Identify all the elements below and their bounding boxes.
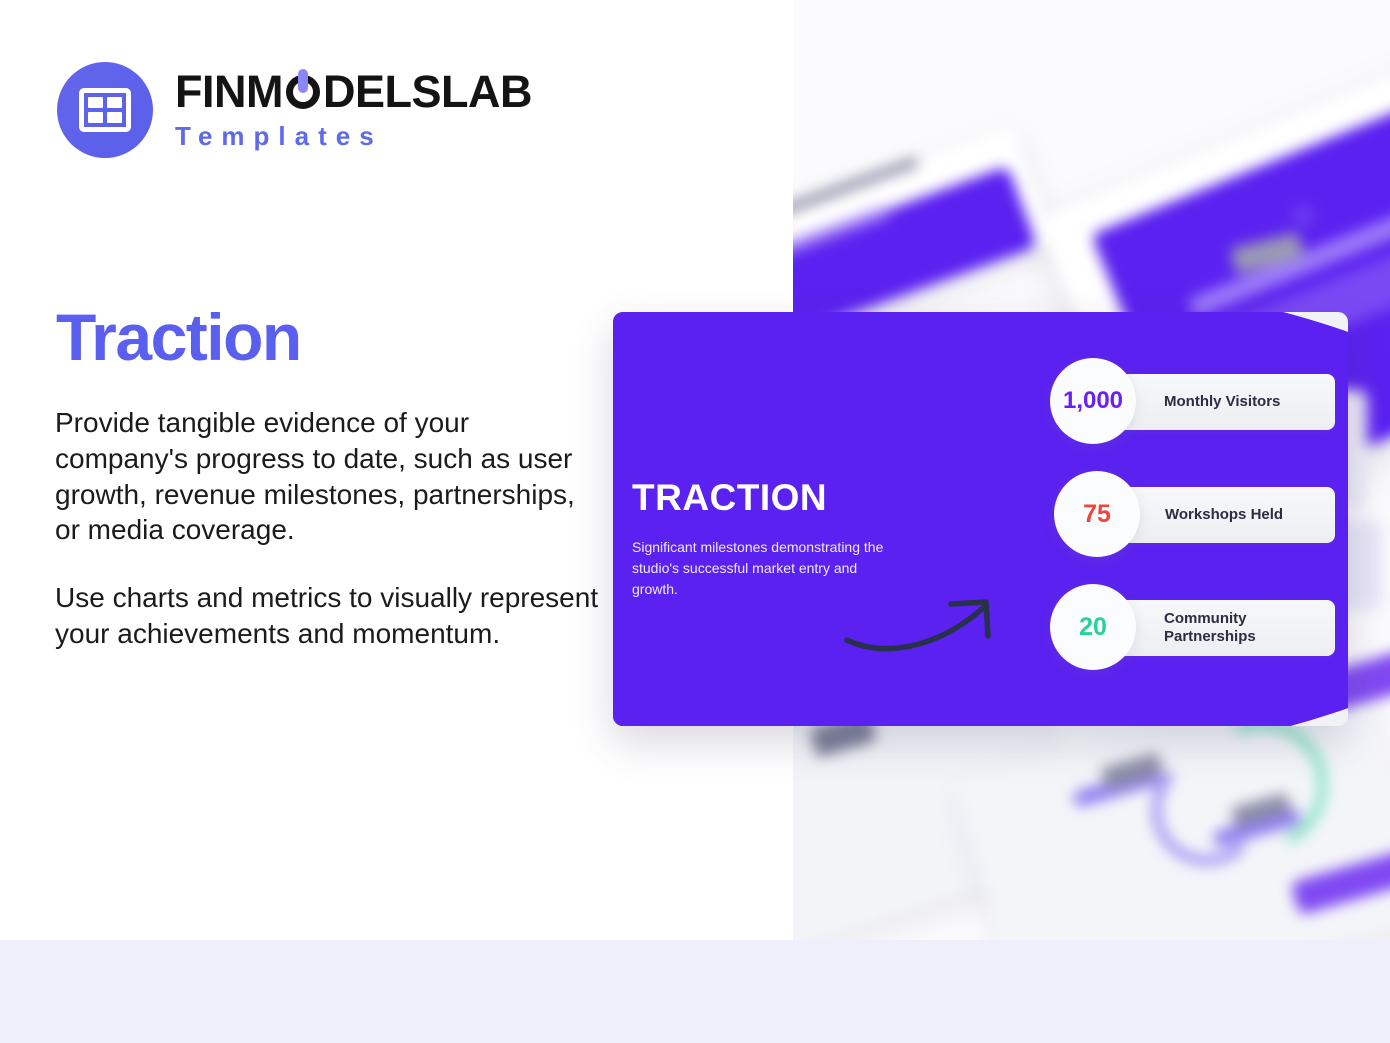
brand-name-part1: FINM <box>175 69 283 114</box>
brand-wordmark: FINM DELSLAB Templates <box>175 69 532 152</box>
metric-label: Monthly Visitors <box>1164 393 1280 411</box>
power-o-icon <box>283 69 323 114</box>
metric-row[interactable]: Community Partnerships 20 <box>1050 584 1335 670</box>
bg-dot-purple <box>1292 205 1314 227</box>
slide-title: TRACTION <box>632 477 827 519</box>
metric-value-badge: 75 <box>1054 471 1140 557</box>
curved-arrow-up-right-icon <box>843 582 1013 662</box>
body-paragraph-2: Use charts and metrics to visually repre… <box>55 580 600 652</box>
metric-label: Community Partnerships <box>1164 610 1335 647</box>
brand-tagline: Templates <box>175 121 532 152</box>
grid-logo-icon <box>57 62 153 158</box>
metric-label: Workshops Held <box>1165 506 1283 524</box>
brand-logo: FINM DELSLAB Templates <box>57 62 532 158</box>
metric-value-badge: 1,000 <box>1050 358 1136 444</box>
page-title: Traction <box>56 304 301 370</box>
body-paragraph-1: Provide tangible evidence of your compan… <box>55 405 600 548</box>
metrics-list: Monthly Visitors 1,000 Workshops Held 75… <box>1050 358 1335 697</box>
slide-preview-card[interactable]: TRACTION Significant milestones demonstr… <box>613 312 1348 726</box>
metric-pill: Workshops Held <box>1110 487 1335 543</box>
slide-page: FINM DELSLAB Templates Traction Provide … <box>0 0 1390 1043</box>
brand-name-part2: DELSLAB <box>323 69 532 114</box>
grid-glyph <box>79 88 131 132</box>
body-copy: Provide tangible evidence of your compan… <box>55 405 600 652</box>
metric-value-badge: 20 <box>1050 584 1136 670</box>
metric-row[interactable]: Monthly Visitors 1,000 <box>1050 358 1335 444</box>
bottom-strip <box>0 940 1390 1043</box>
brand-name: FINM DELSLAB <box>175 69 532 114</box>
metric-row[interactable]: Workshops Held 75 <box>1050 471 1335 557</box>
